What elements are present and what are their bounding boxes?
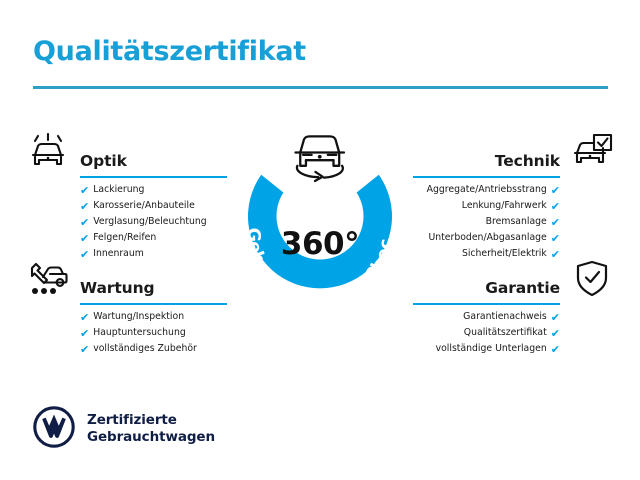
section-title: Garantie [485, 279, 560, 297]
vw-line-1: Zertifizierte [87, 412, 215, 429]
section-list: ✔Garantienachweis ✔Qualitätszertifikat ✔… [413, 309, 618, 357]
list-item-label: Hauptuntersuchung [93, 325, 186, 341]
list-item: ✔vollständige Unterlagen [413, 341, 618, 357]
check-icon: ✔ [80, 217, 89, 228]
list-item: ✔Verglasung/Beleuchtung [22, 214, 227, 230]
section-list: ✔Aggregate/Antriebsstrang ✔Lenkung/Fahrw… [413, 182, 618, 262]
list-item-label: Lenkung/Fahrwerk [462, 198, 547, 214]
list-item: ✔Garantienachweis [413, 309, 618, 325]
check-icon: ✔ [80, 185, 89, 196]
list-item: ✔Qualitätszertifikat [413, 325, 618, 341]
list-item-label: Karosserie/Anbauteile [93, 198, 195, 214]
section-divider [80, 176, 227, 178]
list-item-label: vollständige Unterlagen [436, 341, 547, 357]
section-title: Optik [80, 152, 127, 170]
check-icon: ✔ [551, 201, 560, 212]
section-header: Garantie [413, 257, 618, 303]
section-header: Optik [22, 130, 227, 176]
section-wartung: Wartung ✔Wartung/Inspektion ✔Hauptunters… [22, 257, 227, 303]
list-item-label: Aggregate/Antriebsstrang [427, 182, 547, 198]
vw-logo-icon [33, 406, 75, 452]
check-icon: ✔ [80, 312, 89, 323]
section-header: Wartung [22, 257, 227, 303]
list-item-label: Qualitätszertifikat [464, 325, 547, 341]
list-item: ✔Lackierung [22, 182, 227, 198]
vw-footer: Zertifizierte Gebrauchtwagen [33, 406, 215, 452]
section-technik: Technik ✔Aggregate/Antriebsstrang ✔Lenku… [413, 130, 618, 176]
check-icon: ✔ [80, 328, 89, 339]
list-item: ✔Lenkung/Fahrwerk [413, 198, 618, 214]
list-item-label: Lackierung [93, 182, 144, 198]
list-item: ✔Hauptuntersuchung [22, 325, 227, 341]
list-item-label: vollständiges Zubehör [93, 341, 197, 357]
section-title: Wartung [80, 279, 155, 297]
car-rotate-icon [296, 136, 344, 181]
list-item-label: Verglasung/Beleuchtung [93, 214, 207, 230]
check-icon: ✔ [551, 185, 560, 196]
vw-line-2: Gebrauchtwagen [87, 429, 215, 446]
check-icon: ✔ [551, 217, 560, 228]
list-item: ✔Bremsanlage [413, 214, 618, 230]
list-item: ✔vollständiges Zubehör [22, 341, 227, 357]
list-item: ✔Unterboden/Abgasanlage [413, 230, 618, 246]
section-divider [80, 303, 227, 305]
list-item: ✔Aggregate/Antriebsstrang [413, 182, 618, 198]
list-item-label: Garantienachweis [463, 309, 547, 325]
list-item-label: Bremsanlage [486, 214, 547, 230]
shield-check-icon [566, 257, 618, 301]
check-icon: ✔ [80, 344, 89, 355]
check-icon: ✔ [551, 328, 560, 339]
section-divider [413, 303, 560, 305]
list-item-label: Felgen/Reifen [93, 230, 156, 246]
title-divider [33, 86, 608, 89]
list-item: ✔Felgen/Reifen [22, 230, 227, 246]
badge-center-label: 360° [228, 226, 412, 262]
badge-graphic: Gebrauchtwagen-Check [228, 122, 412, 312]
section-garantie: Garantie ✔Garantienachweis ✔Qualitätszer… [413, 257, 618, 303]
car-checkbox-icon [566, 130, 618, 174]
section-header: Technik [413, 130, 618, 176]
check-icon: ✔ [551, 312, 560, 323]
list-item: ✔Karosserie/Anbauteile [22, 198, 227, 214]
page-title: Qualitätszertifikat [33, 36, 306, 67]
check-icon: ✔ [80, 201, 89, 212]
list-item-label: Wartung/Inspektion [93, 309, 184, 325]
car-shine-icon [22, 130, 74, 174]
section-list: ✔Wartung/Inspektion ✔Hauptuntersuchung ✔… [22, 309, 227, 357]
section-divider [413, 176, 560, 178]
section-list: ✔Lackierung ✔Karosserie/Anbauteile ✔Verg… [22, 182, 227, 262]
certificate-page: Qualitätszertifikat [0, 0, 640, 480]
section-title: Technik [495, 152, 560, 170]
list-item: ✔Wartung/Inspektion [22, 309, 227, 325]
list-item-label: Unterboden/Abgasanlage [428, 230, 546, 246]
badge-360-check: Gebrauchtwagen-Check 360° [228, 122, 412, 312]
vw-wordmark: Zertifizierte Gebrauchtwagen [87, 412, 215, 446]
check-icon: ✔ [80, 233, 89, 244]
check-icon: ✔ [551, 233, 560, 244]
section-optik: Optik ✔Lackierung ✔Karosserie/Anbauteile… [22, 130, 227, 176]
car-wrench-icon [22, 257, 74, 301]
check-icon: ✔ [551, 344, 560, 355]
